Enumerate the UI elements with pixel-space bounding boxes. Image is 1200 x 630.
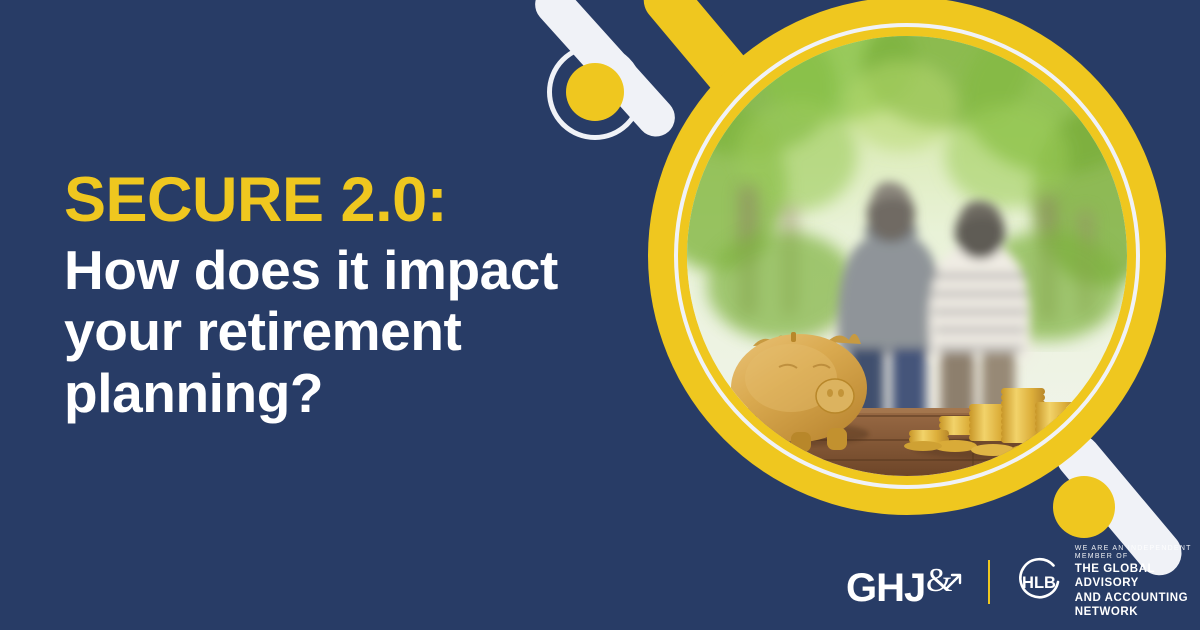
- headline-line-2: How does it impact your retirement plann…: [64, 240, 644, 425]
- hlb-tagline: WE ARE AN INDEPENDENT MEMBER OF THE GLOB…: [1075, 545, 1200, 620]
- logo-divider: [988, 560, 990, 604]
- hlb-logo: HLB WE ARE AN INDEPENDENT MEMBER OF THE …: [1012, 545, 1200, 620]
- svg-text:HLB: HLB: [1022, 574, 1056, 592]
- logo-lockup: GHJ & HLB WE ARE AN INDEPENDENT MEMBER O…: [846, 552, 1200, 612]
- svg-text:&: &: [926, 562, 952, 599]
- hlb-tagline-line-2: AND ACCOUNTING NETWORK: [1075, 591, 1200, 620]
- hlb-circle-mark-icon: HLB: [1012, 555, 1066, 609]
- ghj-logo-letters: GHJ: [846, 568, 925, 608]
- social-card: SECURE 2.0: How does it impact your reti…: [0, 0, 1200, 630]
- ghj-ampersand-arrow-icon: &: [926, 557, 964, 601]
- ghj-logo: GHJ &: [846, 557, 964, 608]
- yellow-dot-top-left: [566, 63, 624, 121]
- hlb-tagline-line-1: THE GLOBAL ADVISORY: [1075, 562, 1200, 591]
- retirement-photo: [687, 36, 1127, 476]
- photo-medallion: [648, 0, 1166, 515]
- hlb-tagline-small: WE ARE AN INDEPENDENT MEMBER OF: [1075, 545, 1200, 563]
- headline-line-1: SECURE 2.0:: [64, 168, 644, 234]
- yellow-dot-bottom-right: [1053, 476, 1115, 538]
- headline: SECURE 2.0: How does it impact your reti…: [64, 168, 644, 424]
